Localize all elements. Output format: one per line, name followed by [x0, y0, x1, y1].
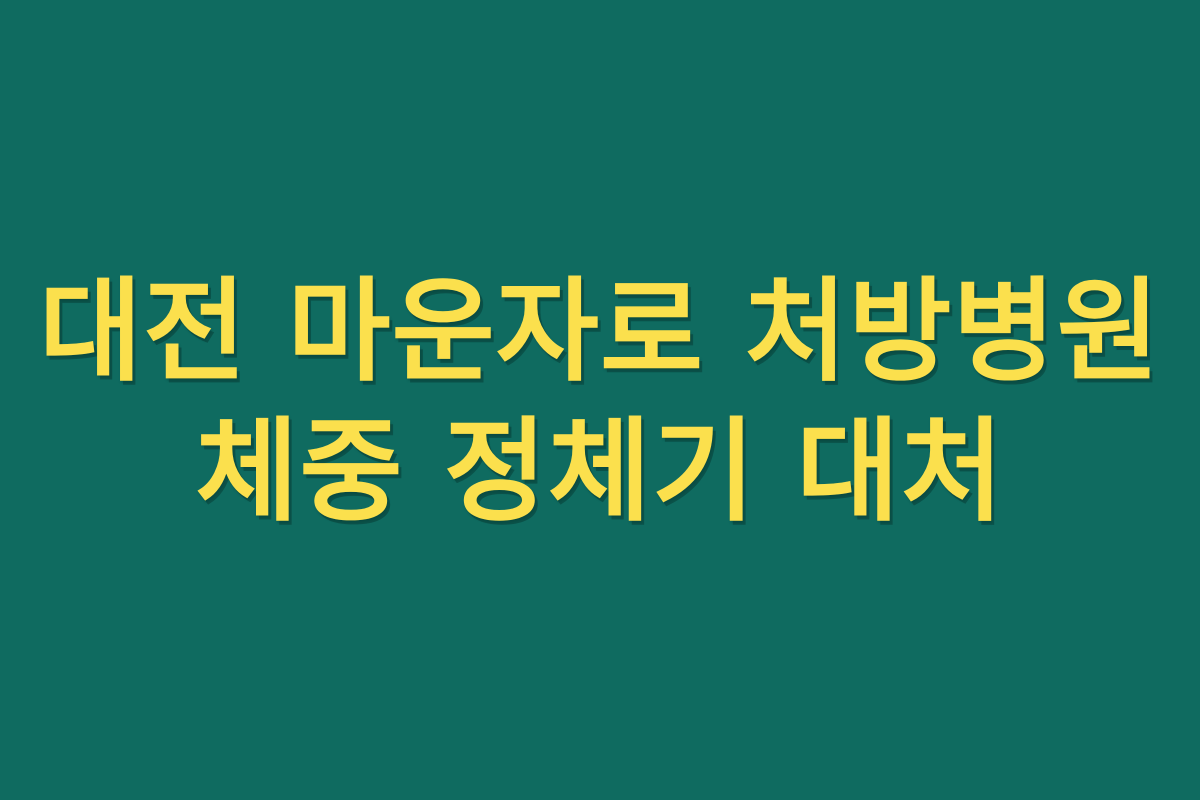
headline-line-2: 체중 정체기 대처 [0, 406, 1200, 538]
banner-canvas: 대전 마운자로 처방병원 체중 정체기 대처 [0, 0, 1200, 800]
headline-line-1: 대전 마운자로 처방병원 [0, 266, 1200, 398]
